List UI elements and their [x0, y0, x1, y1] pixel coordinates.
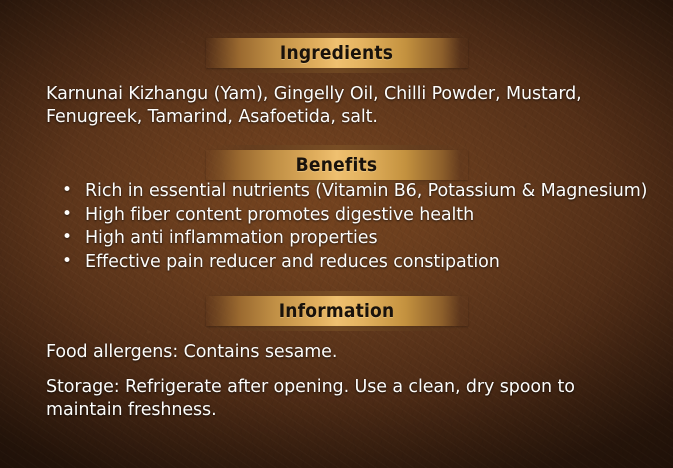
list-item: High fiber content promotes digestive he…	[62, 204, 649, 228]
section-ingredients: Ingredients Karnunai Kizhangu (Yam), Gin…	[0, 0, 673, 129]
section-benefits: Benefits Rich in essential nutrients (Vi…	[0, 129, 673, 274]
ingredients-body: Karnunai Kizhangu (Yam), Gingelly Oil, C…	[0, 68, 673, 129]
information-allergens: Food allergens: Contains sesame.	[0, 326, 673, 364]
benefits-title: Benefits	[296, 154, 378, 176]
information-title: Information	[279, 300, 395, 322]
list-item: High anti inflammation properties	[62, 227, 649, 251]
benefits-list: Rich in essential nutrients (Vitamin B6,…	[0, 180, 673, 274]
list-item: Rich in essential nutrients (Vitamin B6,…	[62, 180, 649, 204]
ingredients-banner-row: Ingredients	[0, 0, 673, 68]
banner-sliver-top-icon	[206, 291, 468, 296]
benefits-banner-row: Benefits	[0, 129, 673, 180]
panel-content: Ingredients Karnunai Kizhangu (Yam), Gin…	[0, 0, 673, 468]
ingredients-title: Ingredients	[280, 42, 393, 64]
ingredients-banner: Ingredients	[206, 38, 468, 68]
banner-sliver-top-icon	[206, 145, 468, 150]
information-storage: Storage: Refrigerate after opening. Use …	[0, 364, 673, 422]
banner-sliver-top-icon	[206, 33, 468, 38]
benefits-banner: Benefits	[206, 150, 468, 180]
information-banner-row: Information	[0, 274, 673, 326]
list-item: Effective pain reducer and reduces const…	[62, 251, 649, 275]
information-banner: Information	[206, 296, 468, 326]
product-info-panel: Ingredients Karnunai Kizhangu (Yam), Gin…	[0, 0, 673, 468]
section-information: Information Food allergens: Contains ses…	[0, 274, 673, 422]
